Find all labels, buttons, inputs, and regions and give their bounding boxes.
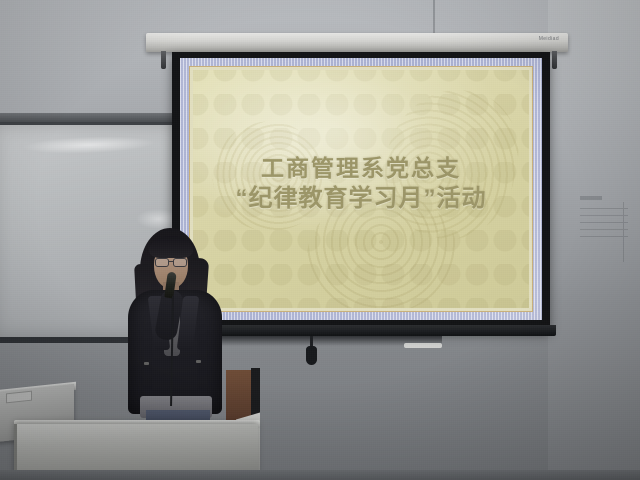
wall-notice-line [580, 236, 628, 237]
wall-notice-heading [580, 196, 602, 200]
photo-scene: Meidiad 工商管理系党总支 “纪律教育学习月”活动 [0, 0, 640, 480]
slide-title-line-1: 工商管理系党总支 [193, 154, 529, 183]
slide-title-line-2: “纪律教育学习月”活动 [193, 183, 529, 214]
wall-notice-line [580, 208, 628, 209]
floor-strip [0, 470, 640, 480]
screen-bracket-right [552, 51, 557, 69]
projector-screen-housing: Meidiad [146, 33, 568, 52]
housing-brand-logo: Meidiad [539, 36, 559, 42]
wall-notice-line [580, 229, 628, 230]
slide-title-block: 工商管理系党总支 “纪律教育学习月”活动 [193, 154, 529, 215]
speaker-person [118, 228, 238, 428]
screen-edge-highlight [404, 343, 442, 348]
wall-notice-line [580, 215, 628, 216]
wall-notice-line [580, 222, 628, 223]
whiteboard-glare [24, 135, 154, 156]
wall-notice-vertical-rule [623, 202, 624, 262]
hair-fringe [149, 236, 193, 258]
glasses-icon [155, 258, 187, 266]
whiteboard-rail [0, 113, 180, 122]
slide-content-area: 工商管理系党总支 “纪律教育学习月”活动 [193, 70, 529, 308]
screen-pull-handle[interactable] [306, 346, 317, 365]
screen-bracket-left [161, 51, 166, 69]
wall-notice-paper [580, 196, 628, 270]
wall-seam [433, 0, 435, 36]
jacket-button-left [144, 362, 149, 365]
jacket-button-right [196, 360, 201, 363]
